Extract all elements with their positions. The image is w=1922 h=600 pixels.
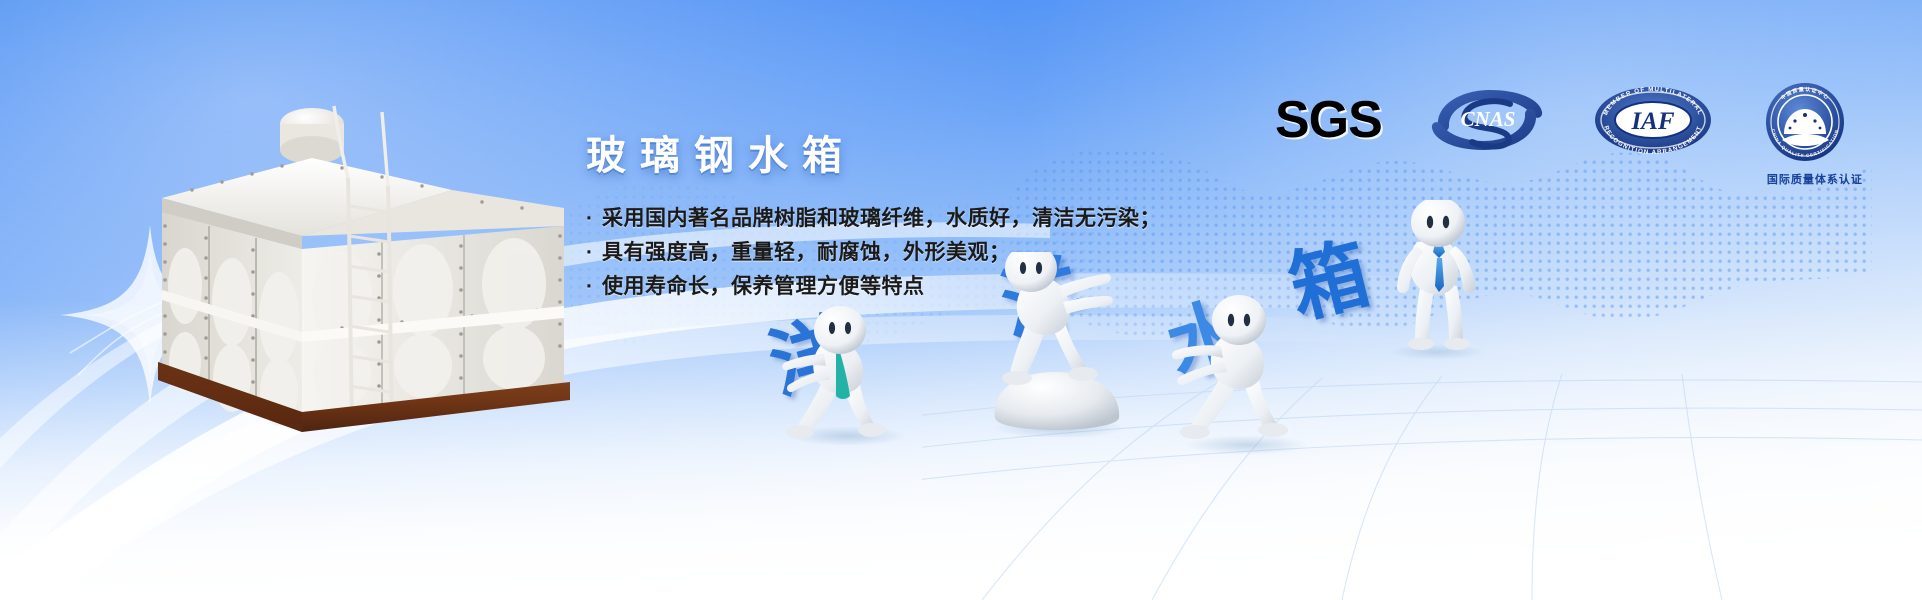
sgs-logo: SGS xyxy=(1275,78,1382,146)
sparkle-star-decoration xyxy=(60,225,240,405)
china-quality-certification-logo: 中国质量认证中心 CHINA QUALITY CERTIFICATION 国际质… xyxy=(1760,78,1870,180)
list-item: ·具有强度高，重量轻，耐腐蚀，外形美观； xyxy=(586,236,1206,270)
mascot-figure-4 xyxy=(1345,200,1535,360)
headline-block: 玻璃钢水箱 ·采用国内著名品牌树脂和玻璃纤维，水质好，清洁无污染； ·具有强度高… xyxy=(586,136,1206,304)
list-item: ·采用国内著名品牌树脂和玻璃纤维，水质好，清洁无污染； xyxy=(586,202,1206,236)
bullet-marker: · xyxy=(586,202,602,236)
cnas-logo: CNAS xyxy=(1428,84,1546,154)
bullet-marker: · xyxy=(586,236,602,270)
feature-list: ·采用国内著名品牌树脂和玻璃纤维，水质好，清洁无污染； ·具有强度高，重量轻，耐… xyxy=(586,202,1206,304)
iaf-wordmark-text: IAF xyxy=(1630,108,1674,135)
certification-logo-row: SGS CNAS xyxy=(1275,78,1870,180)
frp-water-tank-product-image xyxy=(152,86,572,436)
iaf-logo: IAF MEMBER OF MULTILATERAL RECOGNITION A… xyxy=(1592,82,1714,156)
cncb-caption-text: 国际质量体系认证 xyxy=(1760,171,1870,187)
bullet-marker: · xyxy=(586,270,602,304)
mascot-figure-3 xyxy=(1155,290,1345,455)
ground-grid-decoration xyxy=(922,270,1922,600)
cnas-wordmark-text: CNAS xyxy=(1460,107,1515,131)
mascot-figure-1 xyxy=(770,300,945,445)
sgs-wordmark-text: SGS xyxy=(1275,94,1382,146)
page-title: 玻璃钢水箱 xyxy=(586,136,1206,176)
feature-text: 使用寿命长，保养管理方便等特点 xyxy=(602,275,925,298)
promo-banner: 玻璃钢水箱 ·采用国内著名品牌树脂和玻璃纤维，水质好，清洁无污染； ·具有强度高… xyxy=(0,0,1922,600)
brand-glyph-3: 水 xyxy=(1158,290,1255,387)
list-item: ·使用寿命长，保养管理方便等特点 xyxy=(586,270,1206,304)
brand-glyph-4: 箱 xyxy=(1282,234,1377,329)
feature-text: 具有强度高，重量轻，耐腐蚀，外形美观； xyxy=(602,241,1011,264)
feature-text: 采用国内著名品牌树脂和玻璃纤维，水质好，清洁无污染； xyxy=(602,207,1161,230)
horizon-fade-decoration xyxy=(0,300,1922,600)
brand-glyph-1: 洋 xyxy=(761,309,857,405)
